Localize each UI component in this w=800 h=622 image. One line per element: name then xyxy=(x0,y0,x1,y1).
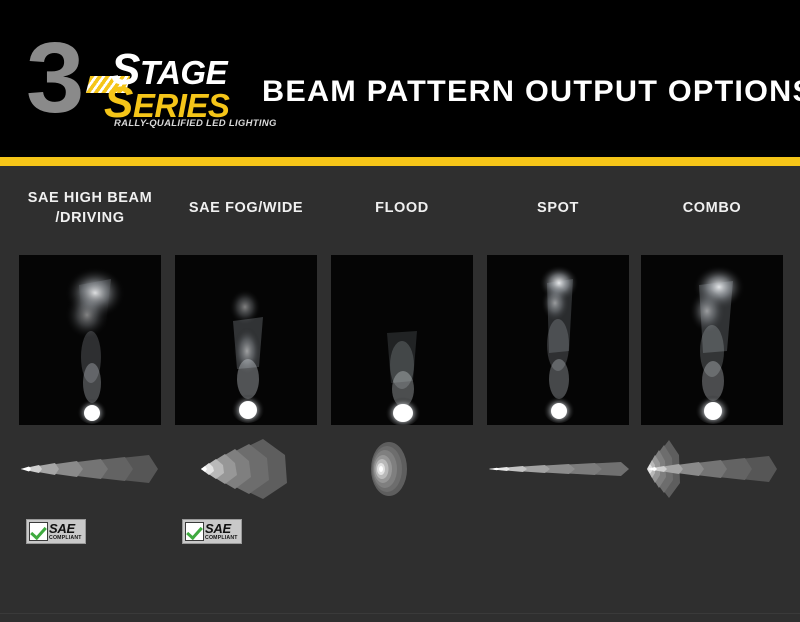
check-icon xyxy=(185,522,204,541)
beam-photo-spot xyxy=(487,255,629,425)
beam-diagram-flood xyxy=(331,438,473,500)
column-label-combo: COMBO xyxy=(641,198,783,218)
column-label-sae-high-beam-driving: SAE HIGH BEAM /DRIVING xyxy=(19,188,161,228)
sae-compliant-badge: SAE COMPLIANT xyxy=(26,519,86,544)
beam-diagram-sae-high-beam-driving xyxy=(19,438,161,500)
sae-badge-sub: COMPLIANT xyxy=(49,536,82,541)
column-label-flood: FLOOD xyxy=(331,198,473,218)
beam-diagram-sae-fog-wide xyxy=(175,438,317,500)
header-bar: 3 STAGE SERIES RALLY-QUALIFIED LED LIGHT… xyxy=(0,0,800,157)
beam-photo-flood xyxy=(331,255,473,425)
logo-tagline: RALLY-QUALIFIED LED LIGHTING xyxy=(114,118,277,129)
sae-badge-text: SAE COMPLIANT xyxy=(49,522,82,541)
badge-slot-sae-high-beam-driving: SAE COMPLIANT xyxy=(19,519,161,549)
bottom-divider xyxy=(0,613,800,614)
beam-diagram-spot xyxy=(487,438,629,500)
badge-slot-flood xyxy=(331,519,473,549)
badge-slot-combo xyxy=(641,519,783,549)
badge-slot-sae-fog-wide: SAE COMPLIANT xyxy=(175,519,317,549)
column-label-sae-fog-wide: SAE FOG/WIDE xyxy=(175,198,317,218)
column-label-spot: SPOT xyxy=(487,198,629,218)
sae-badge-main: SAE xyxy=(49,522,82,535)
beam-diagram-combo xyxy=(641,438,783,500)
beam-photo-sae-high-beam-driving xyxy=(19,255,161,425)
sae-badge-main: SAE xyxy=(205,522,238,535)
sae-badge-sub: COMPLIANT xyxy=(205,536,238,541)
page-title: BEAM PATTERN OUTPUT OPTIONS xyxy=(262,75,800,109)
sae-compliant-badge: SAE COMPLIANT xyxy=(182,519,242,544)
logo-numeral-3: 3 xyxy=(26,31,79,126)
brand-logo: 3 STAGE SERIES RALLY-QUALIFIED LED LIGHT… xyxy=(26,33,241,128)
sae-badge-text: SAE COMPLIANT xyxy=(205,522,238,541)
badge-slot-spot xyxy=(487,519,629,549)
check-icon xyxy=(29,522,48,541)
beam-photo-sae-fog-wide xyxy=(175,255,317,425)
accent-divider xyxy=(0,157,800,166)
beam-photo-combo xyxy=(641,255,783,425)
beam-pattern-grid: SAE HIGH BEAM /DRIVING xyxy=(0,166,800,622)
